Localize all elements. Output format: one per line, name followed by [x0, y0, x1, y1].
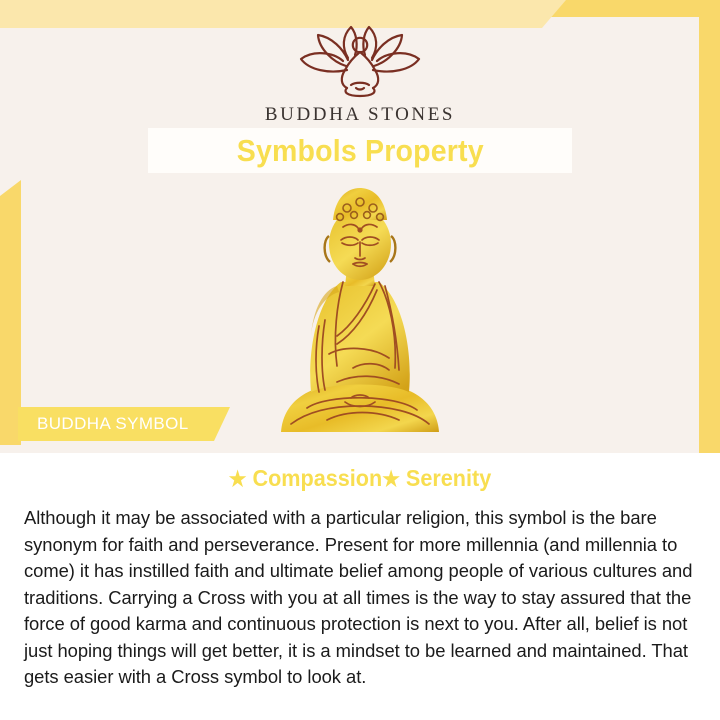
content-body-text: Although it may be associated with a par… [24, 505, 698, 691]
brand-logo: BUDDHA STONES [0, 22, 720, 126]
frame-band-left [0, 180, 21, 445]
poster-canvas: BUDDHA STONES Symbols Property [0, 0, 720, 720]
star-icon-right: ★ [382, 468, 400, 491]
brand-name: BUDDHA STONES [265, 104, 455, 126]
star-icon-left: ★ [229, 468, 247, 491]
ribbon-label: BUDDHA SYMBOL [37, 414, 189, 434]
page-title: Symbols Property [236, 133, 483, 169]
title-panel: Symbols Property [148, 128, 572, 173]
content-panel: ★ Compassion★ Serenity Although it may b… [0, 453, 720, 720]
lotus-meditation-icon [285, 22, 435, 98]
subtitle-compassion: Compassion [252, 465, 382, 491]
subtitle-serenity: Serenity [406, 465, 491, 491]
buddha-symbol-ribbon: BUDDHA SYMBOL [18, 407, 230, 441]
content-subtitle: ★ Compassion★ Serenity [22, 465, 699, 492]
seated-buddha-statue [267, 186, 453, 438]
